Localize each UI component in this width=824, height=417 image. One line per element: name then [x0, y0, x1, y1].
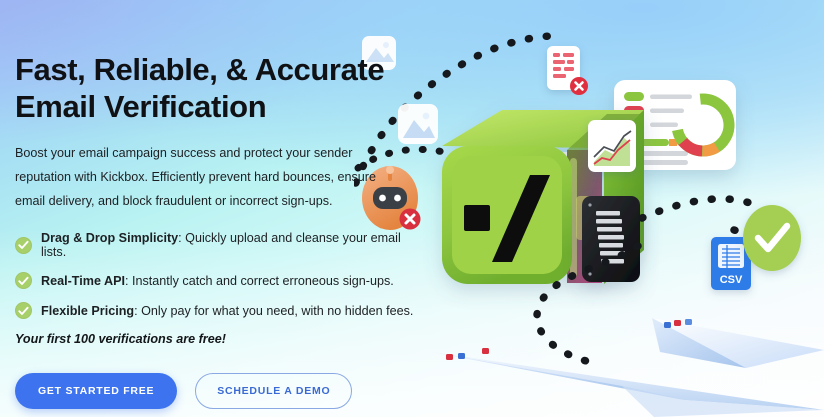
hero-illustration: CSV [354, 0, 824, 417]
hero-subcopy: Boost your email campaign success and pr… [15, 142, 397, 213]
free-verifications-note: Your first 100 verifications are free! [15, 332, 415, 346]
hero-section: CSV [0, 0, 824, 417]
list-item: Real-Time API: Instantly catch and corre… [15, 272, 415, 289]
list-item: Drag & Drop Simplicity: Quickly upload a… [15, 231, 415, 259]
cta-row: GET STARTED FREE SCHEDULE A DEMO [15, 373, 415, 409]
get-started-free-button[interactable]: GET STARTED FREE [15, 373, 177, 409]
feature-detail: : Instantly catch and correct erroneous … [125, 274, 394, 288]
feature-title: Real-Time API [41, 274, 125, 288]
feature-list: Drag & Drop Simplicity: Quickly upload a… [15, 231, 415, 319]
feature-detail: : Only pay for what you need, with no hi… [134, 304, 413, 318]
check-circle-icon [15, 272, 32, 289]
csv-label: CSV [720, 274, 743, 286]
hero-copy: Fast, Reliable, & Accurate Email Verific… [15, 52, 415, 409]
feature-text: Drag & Drop Simplicity: Quickly upload a… [41, 231, 415, 259]
spam-card-icon [547, 46, 588, 95]
paper-plane-icon [432, 318, 824, 417]
list-item: Flexible Pricing: Only pay for what you … [15, 302, 415, 319]
schedule-a-demo-button[interactable]: SCHEDULE A DEMO [195, 373, 352, 409]
feature-title: Drag & Drop Simplicity [41, 231, 178, 245]
line-chart-thumbnail-icon [588, 120, 636, 172]
feature-title: Flexible Pricing [41, 304, 134, 318]
feature-text: Real-Time API: Instantly catch and corre… [41, 274, 394, 288]
check-circle-icon [15, 302, 32, 319]
feature-text: Flexible Pricing: Only pay for what you … [41, 304, 413, 318]
page-title: Fast, Reliable, & Accurate Email Verific… [15, 52, 415, 125]
green-check-circle-icon [743, 205, 801, 271]
check-circle-icon [15, 237, 32, 254]
